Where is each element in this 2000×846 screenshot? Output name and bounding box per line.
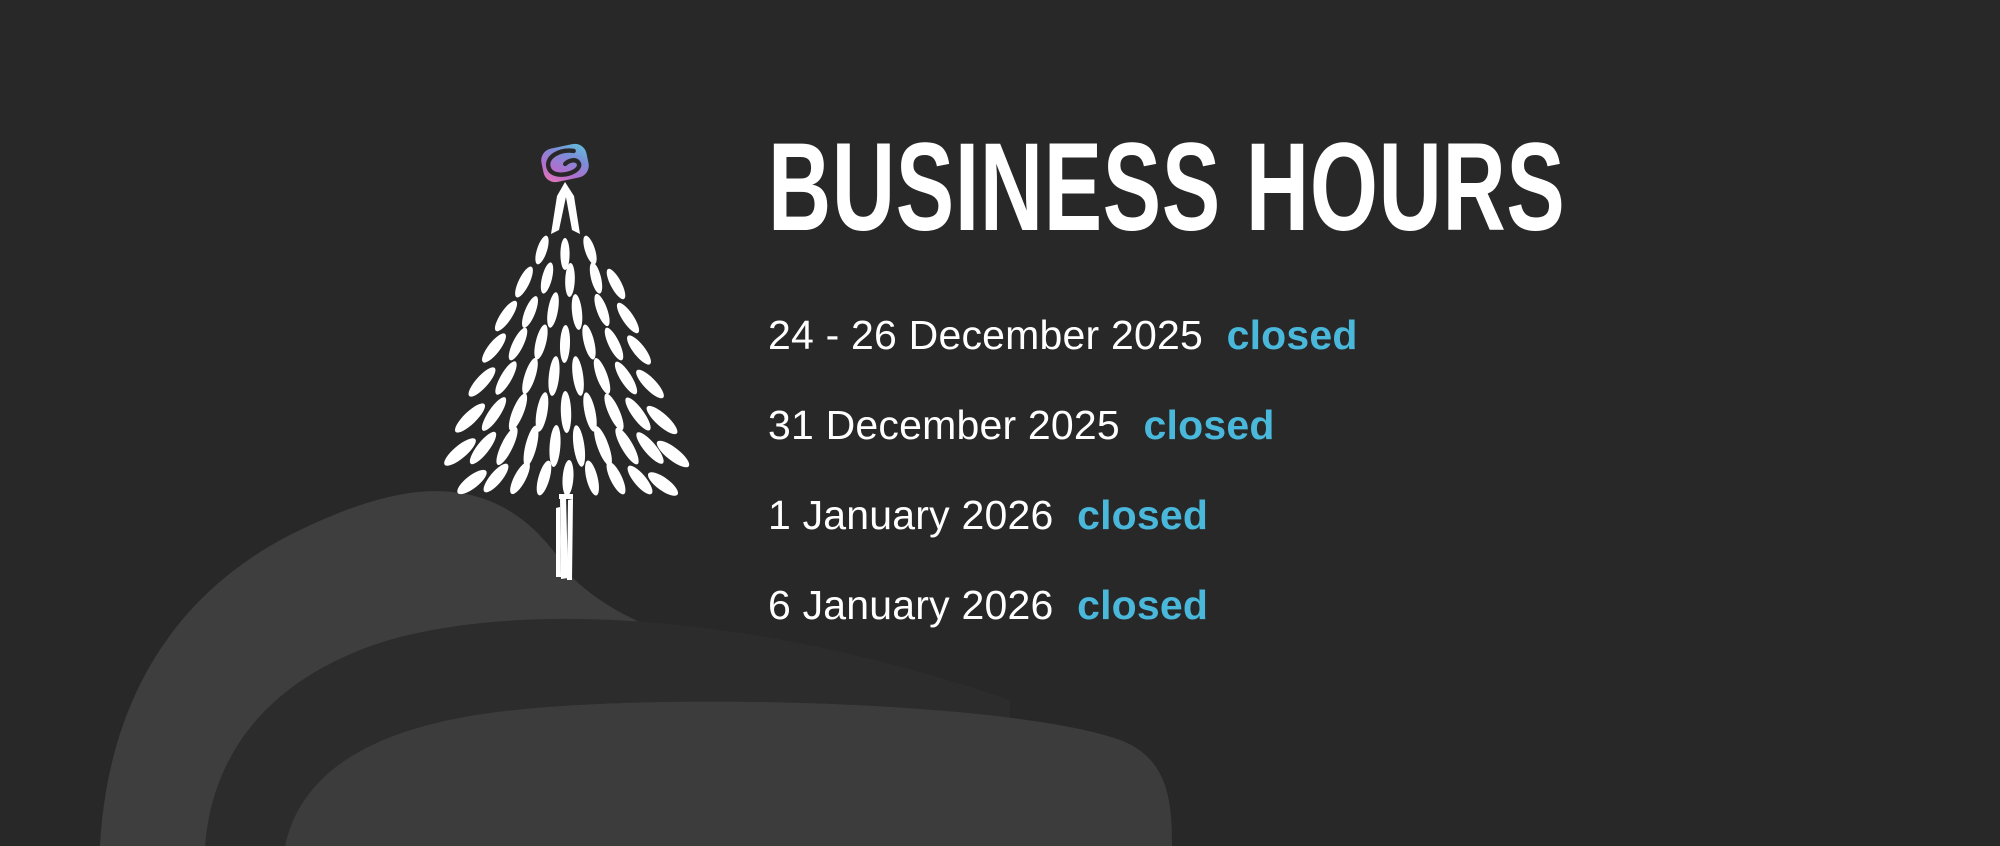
- business-hours-list: 24 - 26 December 2025 closed 31 December…: [768, 290, 1918, 650]
- hill-gap-shape: [205, 619, 1010, 846]
- page-title: BUSINESS HOURS: [768, 128, 1573, 248]
- hours-date: 6 January 2026: [768, 582, 1053, 628]
- status-badge: closed: [1077, 582, 1208, 628]
- hours-date: 24 - 26 December 2025: [768, 312, 1203, 358]
- tree-trunk: [556, 494, 573, 580]
- list-item: 31 December 2025 closed: [768, 380, 1918, 470]
- business-hours-banner: BUSINESS HOURS 24 - 26 December 2025 clo…: [0, 0, 2000, 846]
- content-block: BUSINESS HOURS 24 - 26 December 2025 clo…: [768, 128, 1918, 650]
- hours-date: 31 December 2025: [768, 402, 1120, 448]
- hours-date: 1 January 2026: [768, 492, 1053, 538]
- christmas-tree: [420, 130, 720, 590]
- list-item: 6 January 2026 closed: [768, 560, 1918, 650]
- status-badge: closed: [1227, 312, 1358, 358]
- spiral-logo-icon: [539, 142, 591, 185]
- list-item: 1 January 2026 closed: [768, 470, 1918, 560]
- status-badge: closed: [1077, 492, 1208, 538]
- front-hill-shape: [285, 702, 1172, 846]
- list-item: 24 - 26 December 2025 closed: [768, 290, 1918, 380]
- status-badge: closed: [1144, 402, 1275, 448]
- tree-foliage: [441, 182, 693, 500]
